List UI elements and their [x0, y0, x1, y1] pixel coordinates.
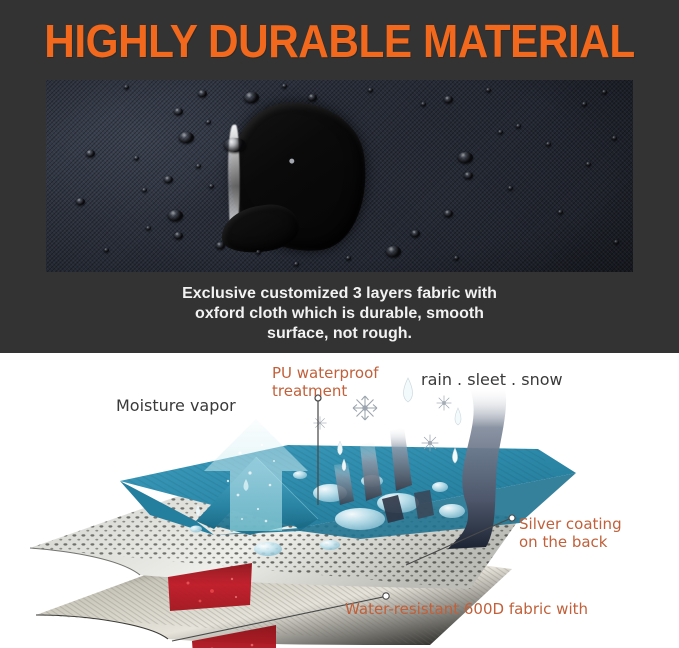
layers-diagram-panel: Moisture vapor PU waterproof treatment r…	[0, 353, 679, 648]
label-pu-line-1: PU waterproof	[272, 364, 379, 382]
feature-description-line-3: surface, not rough.	[0, 324, 679, 344]
snowflake-icon	[313, 396, 451, 452]
feature-description-line-1: Exclusive customized 3 layers fabric wit…	[0, 284, 679, 304]
label-moisture-vapor: Moisture vapor	[116, 396, 236, 415]
raindrop-icon	[338, 441, 343, 455]
feature-description-line-2: oxford cloth which is durable, smooth	[0, 304, 679, 324]
product-feature-page: HIGHLY DURABLE MATERIAL	[0, 0, 679, 648]
label-pu-line-2: treatment	[272, 382, 379, 400]
feature-description: Exclusive customized 3 layers fabric wit…	[0, 284, 679, 344]
page-title: HIGHLY DURABLE MATERIAL	[27, 18, 652, 64]
label-water-resistant-fabric: Water-resistant 600D fabric with	[345, 600, 588, 618]
raindrop-icon	[455, 408, 461, 425]
label-silver-line-2: on the back	[519, 533, 622, 551]
label-silver-coating: Silver coating on the back	[519, 515, 622, 551]
label-silver-line-1: Silver coating	[519, 515, 622, 533]
photo-vignette	[46, 80, 633, 272]
raindrop-icon	[404, 378, 413, 402]
leader-dot-icon	[383, 593, 389, 599]
label-pu-waterproof-treatment: PU waterproof treatment	[272, 364, 379, 400]
waterproof-fabric-photo	[46, 80, 633, 272]
leader-dot-icon	[509, 515, 515, 521]
hero-dark-panel: HIGHLY DURABLE MATERIAL	[0, 0, 679, 353]
label-rain-sleet-snow: rain . sleet . snow	[421, 370, 563, 389]
